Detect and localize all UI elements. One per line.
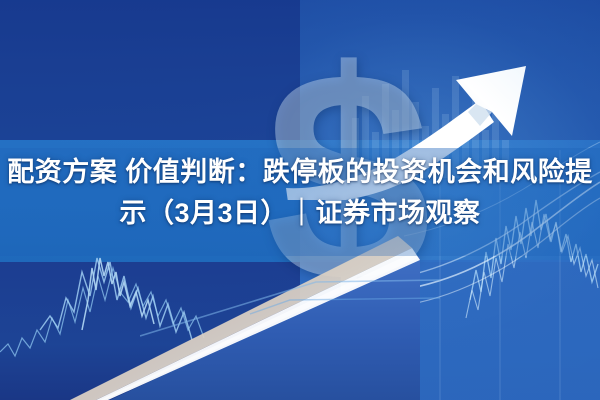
page-title: 配资方案 价值判断：跌停板的投资机会和风险提 示（3月3日）｜证券市场观察	[0, 152, 600, 234]
banner-image: $	[0, 0, 600, 400]
title-line-1: 配资方案 价值判断：跌停板的投资机会和风险提	[0, 152, 600, 193]
title-line-2: 示（3月3日）｜证券市场观察	[0, 193, 600, 234]
ribbon-edge-extension	[140, 278, 440, 338]
